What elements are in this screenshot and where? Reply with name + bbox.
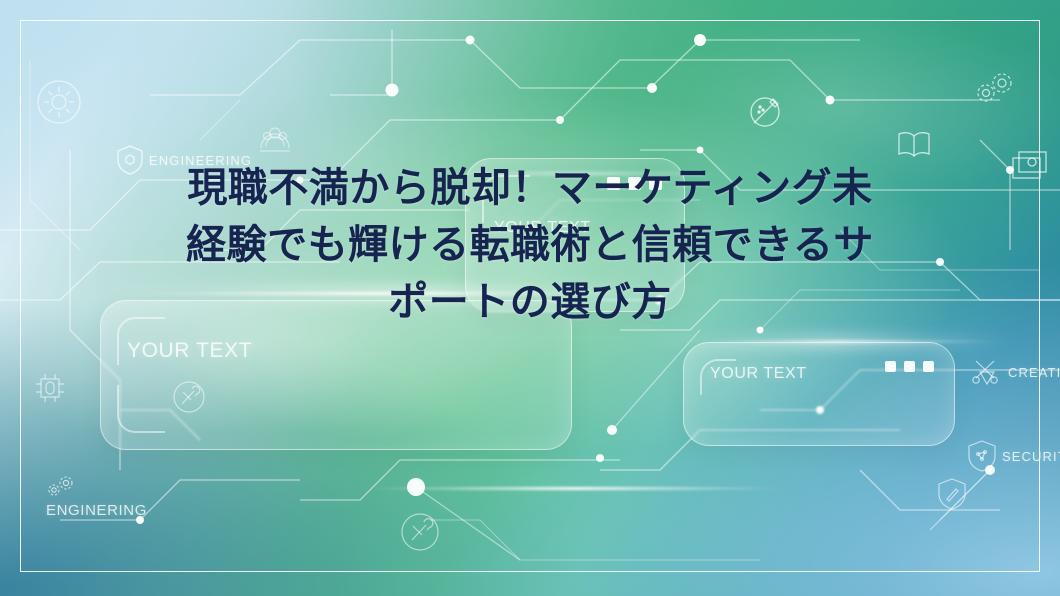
decoration-caption-engineering-bottom: ENGINERING xyxy=(46,502,147,519)
scissors-icon xyxy=(972,358,1002,386)
card-left-label: YOUR TEXT xyxy=(127,339,252,363)
book-icon xyxy=(897,130,931,158)
window-dot-icon xyxy=(923,361,934,372)
slide-title-line-3: ポートの選び方 xyxy=(56,274,1004,331)
light-streak-lower xyxy=(360,487,790,490)
window-dot-icon xyxy=(904,361,915,372)
card-right-label: YOUR TEXT xyxy=(710,365,807,383)
slide-canvas: YOUR TEXT YOUR TEXT YOUR TEXT xyxy=(0,0,1060,596)
gear-icon xyxy=(35,78,83,126)
tools-circle-icon xyxy=(171,379,207,415)
card-right-window-dots[interactable] xyxy=(885,361,934,372)
security-decoration: SECURITY xyxy=(968,440,1060,472)
slide-title-line-2: 経験でも輝ける転職術と信頼できるサ xyxy=(56,217,1004,274)
decoration-caption-creativity: CREATIVITY xyxy=(1008,365,1060,380)
glass-card-right[interactable]: YOUR TEXT xyxy=(683,342,955,446)
slide-title: 現職不満から脱却！マーケティング未 経験でも輝ける転職術と信頼できるサ ポートの… xyxy=(0,160,1060,330)
creativity-decoration: CREATIVITY xyxy=(972,358,1060,386)
slide-title-line-1: 現職不満から脱却！マーケティング未 xyxy=(56,160,1004,217)
gears-icon xyxy=(973,72,1015,106)
people-icon xyxy=(258,118,292,152)
engineering-bottom-decoration: ENGINERING xyxy=(46,476,147,519)
decoration-caption-security: SECURITY xyxy=(1002,449,1060,464)
gears-small-icon xyxy=(46,476,76,500)
shield-dot-icon xyxy=(968,440,996,472)
compass-icon xyxy=(746,93,784,131)
window-dot-icon xyxy=(885,361,896,372)
card-corner-accent-bottom xyxy=(117,385,165,433)
chip-icon xyxy=(33,374,67,402)
tools-circle-icon xyxy=(400,512,440,552)
shield-pen-icon xyxy=(938,478,966,510)
